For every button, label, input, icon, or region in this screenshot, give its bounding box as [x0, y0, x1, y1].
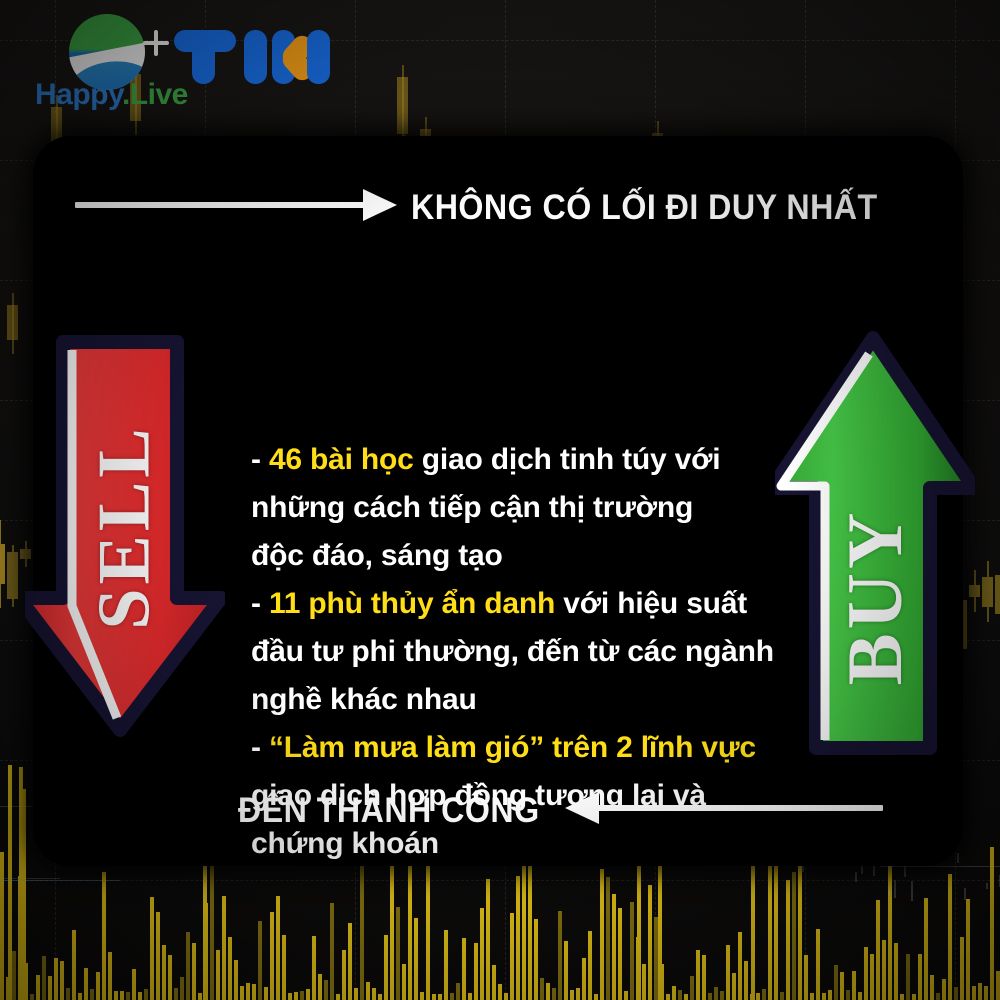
volume-bar — [342, 950, 346, 1000]
volume-bar — [588, 931, 592, 1000]
volume-bar — [120, 991, 124, 1000]
volume-bar — [510, 913, 514, 1000]
volume-bar — [300, 991, 304, 1000]
volume-bar — [306, 989, 310, 1000]
volume-bar — [984, 986, 988, 1000]
volume-bar — [774, 860, 778, 1000]
volume-bar — [834, 965, 838, 1000]
volume-bar — [606, 877, 610, 1000]
volume-bar — [498, 984, 502, 1000]
volume-bar — [678, 990, 682, 1000]
volume-bar — [474, 943, 478, 1000]
bullet-rest: đầu tư phi thường, đến từ các ngành — [251, 635, 774, 668]
volume-bar — [108, 952, 112, 1000]
volume-bar — [138, 992, 142, 1000]
volume-bar — [978, 983, 982, 1000]
volume-bar — [462, 938, 466, 1000]
footer-arrow-shaft — [597, 805, 883, 811]
candle-body — [0, 544, 5, 583]
volume-bar — [684, 994, 688, 1000]
price-tick — [894, 880, 896, 899]
volume-bar — [504, 993, 508, 1000]
volume-bar — [22, 789, 26, 1000]
sell-label: SELL — [83, 424, 168, 629]
volume-bar — [156, 912, 160, 1000]
volume-bar — [12, 951, 16, 1000]
volume-bar — [840, 972, 844, 1000]
volume-bar — [954, 987, 958, 1000]
volume-bar — [900, 994, 904, 1000]
volume-bar — [480, 908, 484, 1000]
bullet-highlight: 46 bài học — [269, 443, 414, 476]
happylive-logo[interactable]: Happy.Live — [35, 12, 175, 112]
bullet-rest: độc đáo, sáng tạo — [251, 539, 503, 572]
price-tick — [911, 881, 913, 902]
volume-bar — [246, 983, 250, 1000]
tiki-letter-t-stem — [192, 36, 215, 84]
volume-bar — [162, 945, 166, 1000]
logo-bar: Happy.Live — [0, 0, 1000, 130]
volume-bar — [738, 932, 742, 1000]
volume-bar — [132, 969, 136, 1000]
poster-canvas: Happy.Live KHÔNG CÓ LỐI ĐI DUY NHẤT - 46… — [0, 0, 1000, 1000]
volume-bar — [822, 993, 826, 1000]
volume-bar — [324, 980, 328, 1000]
volume-bar — [252, 984, 256, 1000]
happylive-word-happy: Happy — [35, 78, 122, 111]
volume-bar — [168, 955, 172, 1000]
footer-row: ĐẾN THÀNH CÔNG — [33, 791, 963, 841]
volume-bar — [618, 908, 622, 1000]
volume-bar — [552, 988, 556, 1000]
sell-signal[interactable]: SELL — [25, 330, 225, 740]
volume-bar — [708, 993, 712, 1000]
volume-bar — [414, 918, 418, 1000]
list-item: - “Làm mưa làm gió” trên 2 lĩnh vực — [251, 724, 831, 772]
tiki-logo[interactable] — [172, 28, 302, 84]
volume-bar — [996, 971, 1000, 1000]
volume-bar — [150, 897, 154, 1000]
volume-bar — [0, 852, 4, 1000]
bullet-highlight: 11 phù thủy ẩn danh — [269, 587, 555, 620]
volume-bar — [894, 943, 898, 1000]
volume-bar — [378, 994, 382, 1000]
tiki-letter-i-first — [244, 30, 267, 84]
volume-bar — [576, 988, 580, 1000]
volume-bar — [666, 994, 670, 1000]
volume-bar — [624, 991, 628, 1000]
volume-bar — [294, 992, 298, 1000]
volume-bar — [630, 902, 634, 1000]
buy-signal[interactable]: BUY — [775, 330, 975, 760]
volume-bar — [792, 872, 796, 1000]
volume-bar — [48, 976, 52, 1000]
tiki-letter-i-second — [307, 30, 330, 84]
candle-body — [995, 575, 1000, 614]
volume-bar — [216, 950, 220, 1000]
volume-bar — [348, 923, 352, 1000]
volume-bar — [186, 932, 190, 1000]
volume-bar — [468, 993, 472, 1000]
volume-bar — [396, 907, 400, 1000]
bullet-dash: - — [251, 587, 261, 620]
volume-bar — [438, 994, 442, 1000]
volume-bar — [714, 987, 718, 1000]
volume-bar — [318, 974, 322, 1000]
volume-bar — [672, 986, 676, 1000]
volume-bar — [882, 940, 886, 1000]
price-tick — [986, 883, 988, 890]
volume-bar — [942, 979, 946, 1000]
volume-bar — [390, 847, 394, 1000]
volume-bar — [582, 958, 586, 1000]
candle-body — [982, 577, 993, 607]
candle-body — [7, 552, 18, 598]
volume-bar — [960, 937, 964, 1000]
indicator-line — [0, 878, 60, 879]
volume-bar — [456, 983, 460, 1000]
volume-bar — [198, 993, 202, 1000]
volume-bar — [546, 983, 550, 1000]
volume-bar — [240, 986, 244, 1000]
arrow-left-icon — [565, 792, 599, 824]
volume-bar — [888, 863, 892, 1000]
volume-bar — [450, 993, 454, 1000]
volume-bar — [600, 869, 604, 1000]
volume-bar — [780, 992, 784, 1000]
volume-bar — [936, 993, 940, 1000]
volume-bar — [102, 872, 106, 1000]
volume-bar — [222, 896, 226, 1000]
price-tick — [888, 889, 890, 896]
page-title: KHÔNG CÓ LỐI ĐI DUY NHẤT — [411, 188, 878, 228]
volume-bar — [66, 988, 70, 1000]
happylive-wordmark: Happy.Live — [35, 78, 185, 112]
volume-bar — [426, 860, 430, 1000]
volume-bar — [558, 911, 562, 1000]
volume-bar — [54, 958, 58, 1000]
volume-bar — [360, 866, 364, 1000]
volume-bar — [726, 945, 730, 1000]
volume-bar — [570, 990, 574, 1000]
volume-bar — [444, 930, 448, 1000]
arrow-right-icon — [363, 189, 397, 221]
volume-bar — [126, 992, 130, 1000]
volume-bar — [648, 885, 652, 1000]
volume-bar — [516, 876, 520, 1000]
volume-bar — [846, 990, 850, 1000]
volume-bar — [966, 899, 970, 1000]
volume-bar — [492, 965, 496, 1000]
volume-bar — [972, 986, 976, 1000]
volume-bar — [912, 994, 916, 1000]
volume-bar — [876, 900, 880, 1000]
volume-bar — [486, 879, 490, 1000]
bullet-rest: với hiệu suất — [555, 587, 747, 620]
volume-bar — [528, 854, 532, 1000]
volume-bar — [720, 991, 724, 1000]
volume-bar — [42, 956, 46, 1000]
bullet-rest: những cách tiếp cận thị trường — [251, 491, 693, 524]
buy-label: BUY — [830, 508, 920, 685]
price-tick — [964, 888, 966, 901]
price-tick — [957, 853, 959, 863]
header-row: KHÔNG CÓ LỐI ĐI DUY NHẤT — [33, 188, 963, 238]
volume-bar — [762, 989, 766, 1000]
bullet-dash: - — [251, 443, 261, 476]
grid-line-horizontal — [0, 880, 1000, 882]
volume-bar — [522, 854, 526, 1000]
list-item: - 11 phù thủy ẩn danh với hiệu suất — [251, 580, 831, 628]
volume-bar — [36, 975, 40, 1000]
bullet-dash: - — [251, 731, 261, 764]
volume-bar — [72, 930, 76, 1000]
volume-bar — [594, 994, 598, 1000]
volume-bar — [756, 993, 760, 1000]
volume-bar — [84, 968, 88, 1000]
list-item: độc đáo, sáng tạo — [251, 532, 831, 580]
list-item: - 46 bài học giao dịch tinh túy với — [251, 436, 831, 484]
volume-bar — [612, 894, 616, 1000]
volume-bar — [90, 989, 94, 1000]
page-subtitle: ĐẾN THÀNH CÔNG — [238, 791, 540, 831]
volume-bar — [8, 765, 12, 1000]
volume-bar — [60, 961, 64, 1000]
volume-bar — [828, 990, 832, 1000]
volume-bar — [114, 991, 118, 1000]
list-item: đầu tư phi thường, đến từ các ngành — [251, 628, 831, 676]
volume-bar — [270, 912, 274, 1000]
list-item: những cách tiếp cận thị trường — [251, 484, 831, 532]
volume-bar — [402, 964, 406, 1000]
volume-bar — [816, 929, 820, 1000]
volume-bar — [234, 960, 238, 1000]
volume-bar — [540, 978, 544, 1000]
candle-body — [7, 305, 18, 339]
volume-bar — [420, 992, 424, 1000]
volume-bar — [384, 935, 388, 1000]
volume-bar — [786, 880, 790, 1000]
volume-bar — [174, 988, 178, 1000]
volume-bar — [906, 954, 910, 1000]
volume-bar — [852, 971, 856, 1000]
volume-bar — [564, 941, 568, 1000]
price-tick — [904, 866, 906, 877]
volume-bar — [330, 903, 334, 1000]
volume-bar — [354, 988, 358, 1000]
volume-bar — [276, 896, 280, 1000]
sparkle-icon — [143, 30, 169, 56]
volume-bar — [258, 921, 262, 1000]
volume-bar — [732, 973, 736, 1000]
volume-bar — [282, 935, 286, 1000]
volume-bar — [30, 994, 34, 1000]
volume-bar — [702, 955, 706, 1000]
volume-bar — [696, 950, 700, 1000]
volume-bar — [864, 947, 868, 1000]
volume-bar — [690, 976, 694, 1000]
volume-bar — [96, 972, 100, 1000]
price-tick — [855, 872, 857, 882]
volume-bar — [228, 937, 232, 1000]
bullet-rest: giao dịch tinh túy với — [414, 443, 721, 476]
volume-bar — [372, 988, 376, 1000]
volume-bar — [924, 898, 928, 1000]
indicator-line — [0, 880, 120, 881]
volume-bar — [264, 987, 268, 1000]
volume-bar — [948, 874, 952, 1000]
volume-bar — [366, 982, 370, 1000]
volume-bar — [192, 943, 196, 1000]
volume-bar — [744, 961, 748, 1000]
volume-bar — [804, 955, 808, 1000]
volume-bar — [432, 994, 436, 1000]
volume-bar — [210, 846, 214, 1000]
volume-bar — [180, 977, 184, 1000]
volume-bar — [870, 954, 874, 1000]
volume-bar — [78, 993, 82, 1000]
volume-bar — [930, 975, 934, 1000]
volume-bar — [336, 994, 340, 1000]
bullet-rest: nghề khác nhau — [251, 683, 477, 716]
volume-bar — [288, 993, 292, 1000]
volume-bar — [858, 992, 862, 1000]
volume-bar — [810, 993, 814, 1000]
volume-bar — [312, 936, 316, 1000]
list-item: nghề khác nhau — [251, 676, 831, 724]
bullet-highlight: “Làm mưa làm gió” trên 2 lĩnh vực — [269, 731, 756, 764]
volume-bar — [918, 954, 922, 1000]
volume-bar — [990, 847, 994, 1000]
header-arrow-shaft — [75, 202, 375, 208]
volume-bar — [144, 989, 148, 1000]
volume-bar — [642, 964, 646, 1000]
indicator-line — [880, 866, 1000, 867]
volume-bar — [534, 919, 538, 1000]
